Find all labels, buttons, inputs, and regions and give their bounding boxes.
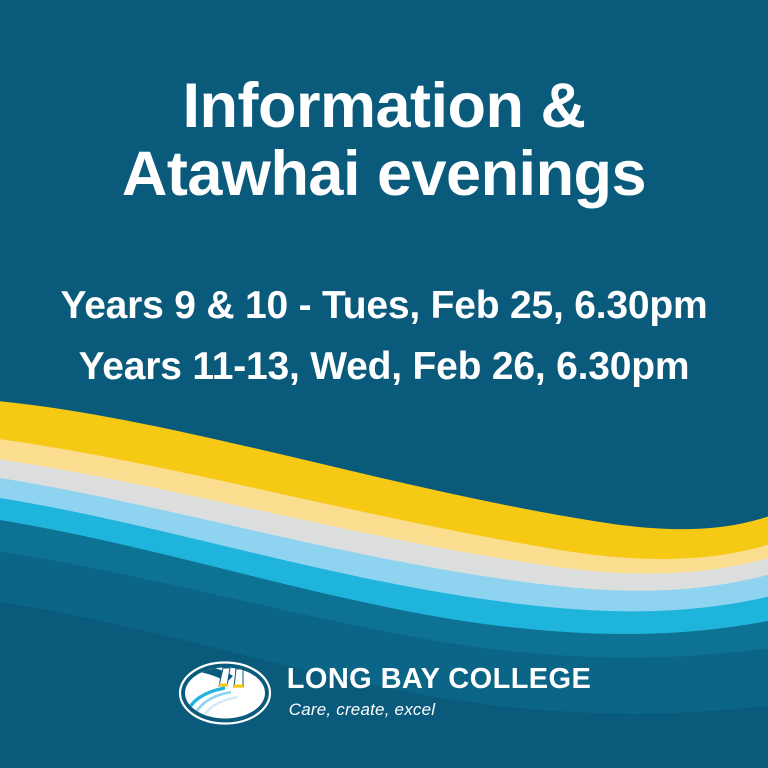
schedule-line-years-9-10: Years 9 & 10 - Tues, Feb 25, 6.30pm [0, 276, 768, 337]
logo-tagline: Care, create, excel [287, 696, 435, 721]
wave-stripe-light-blue [0, 457, 768, 611]
wave-stripe-cyan [0, 478, 768, 634]
logo-lockup: LONG BAY COLLEGE Care, create, excel [0, 660, 768, 726]
wave-stripe-yellow [0, 398, 768, 559]
wave-stripe-grey [0, 437, 768, 591]
long-bay-college-oval-emblem [177, 660, 273, 726]
schedule-line-years-11-13: Years 11-13, Wed, Feb 26, 6.30pm [0, 337, 768, 398]
schedule-list: Years 9 & 10 - Tues, Feb 25, 6.30pm Year… [0, 208, 768, 398]
wave-stripe-teal-mid [0, 508, 768, 658]
logo-wordmark: LONG BAY COLLEGE Care, create, excel [287, 663, 592, 723]
headline-line-1: Information & [0, 72, 768, 140]
page-title: Information & Atawhai evenings [0, 0, 768, 208]
logo-name: LONG BAY COLLEGE [287, 663, 592, 695]
headline-line-2: Atawhai evenings [0, 140, 768, 208]
poster-canvas: Information & Atawhai evenings Years 9 &… [0, 0, 768, 768]
emblem-post-right [234, 669, 243, 687]
text-block: Information & Atawhai evenings Years 9 &… [0, 0, 768, 398]
emblem-post-left-tip [219, 684, 228, 687]
emblem-post-right-tip [234, 685, 243, 688]
wave-stripe-cream [0, 419, 768, 574]
